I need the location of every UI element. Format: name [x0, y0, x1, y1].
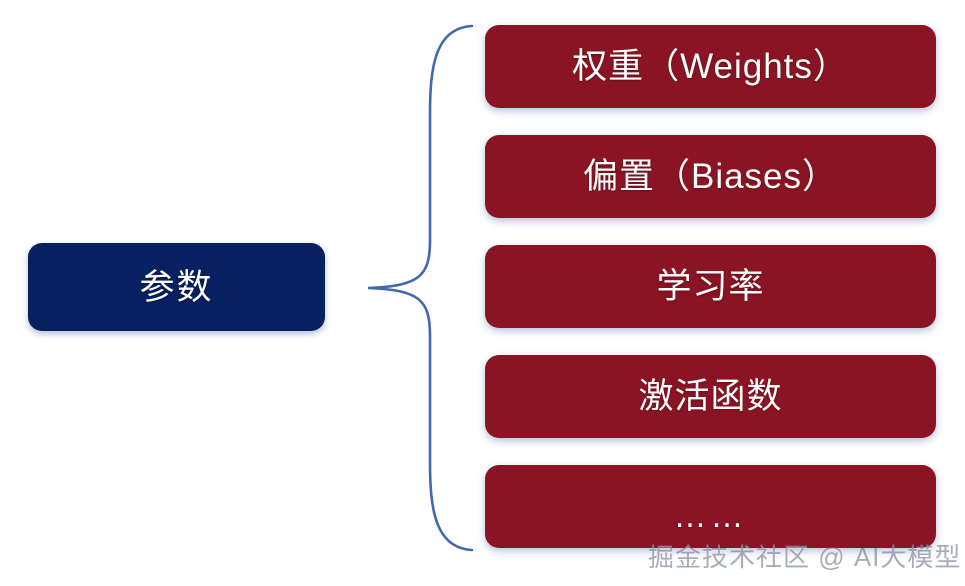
branch-node-more[interactable]: …… [485, 465, 936, 548]
diagram-canvas: 参数 权重（Weights） 偏置（Biases） 学习率 激活函数 …… 掘金… [0, 0, 965, 586]
branch-node-activation-function[interactable]: 激活函数 [485, 355, 936, 438]
curly-brace-connector [360, 18, 490, 568]
branch-label-learning-rate: 学习率 [656, 269, 764, 304]
root-node-parameters[interactable]: 参数 [28, 243, 325, 331]
branch-list: 权重（Weights） 偏置（Biases） 学习率 激活函数 …… [485, 25, 936, 548]
branch-label-weights: 权重（Weights） [572, 49, 849, 84]
branch-label-more: …… [674, 481, 748, 532]
branch-node-learning-rate[interactable]: 学习率 [485, 245, 936, 328]
watermark-text: 掘金技术社区 @ AI大模型 [648, 544, 961, 570]
branch-label-activation-function: 激活函数 [638, 379, 782, 414]
root-node-label: 参数 [139, 270, 213, 305]
branch-node-weights[interactable]: 权重（Weights） [485, 25, 936, 108]
brace-path [368, 26, 472, 550]
branch-node-biases[interactable]: 偏置（Biases） [485, 135, 936, 218]
branch-label-biases: 偏置（Biases） [583, 159, 838, 194]
